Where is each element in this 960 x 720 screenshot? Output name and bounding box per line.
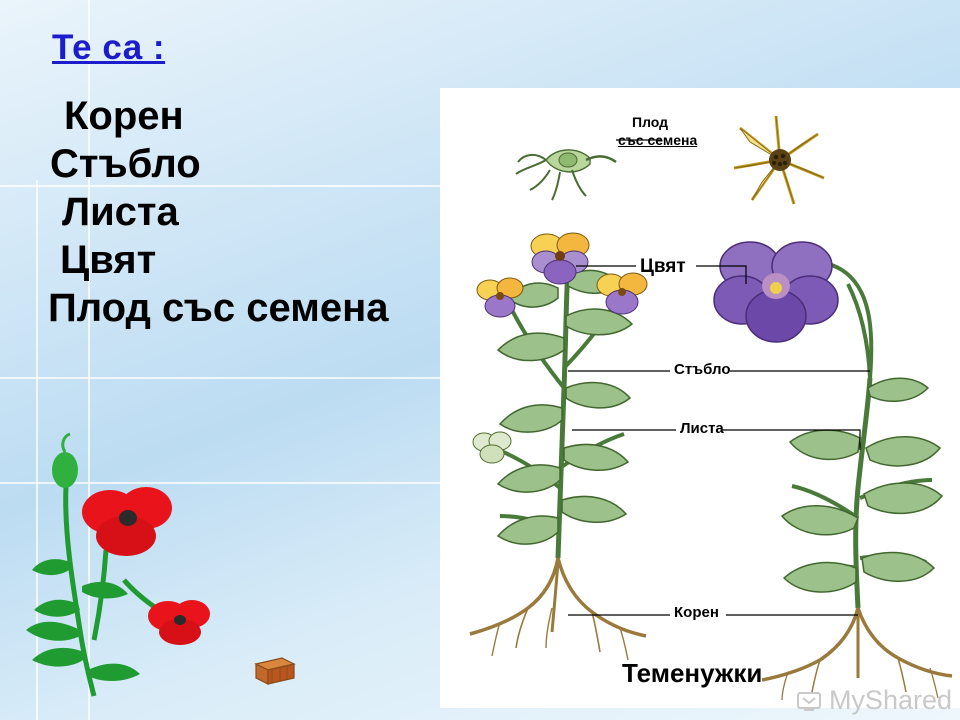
watermark: MyShared [795, 685, 952, 716]
label-flower: Цвят [640, 256, 686, 278]
decorative-line-2 [0, 377, 440, 379]
list-item: Корен [64, 96, 448, 136]
list-item: Стъбло [50, 144, 448, 184]
list-item: Листа [62, 192, 448, 232]
seed-capsule-illustration [516, 150, 616, 200]
brick-icon [252, 652, 298, 690]
right-violet-plant [714, 242, 952, 700]
page-title: Те са : [52, 28, 165, 68]
label-stem: Стъбло [674, 361, 731, 378]
label-root: Корен [674, 604, 719, 621]
diagram-caption: Теменужки [622, 658, 762, 689]
label-fruit-line2: със семена [618, 132, 697, 148]
poppy-flower-illustration [20, 430, 240, 700]
left-violet-plant [470, 233, 647, 660]
label-leaves: Листа [680, 420, 724, 437]
slide: Те са : Корен Стъбло Листа Цвят Плод със… [0, 0, 960, 720]
list-item: Плод със семена [48, 288, 448, 328]
diagram-panel: Плод със семена Цвят Стъбло Листа Корен … [440, 88, 960, 708]
label-fruit-line1: Плод [632, 114, 668, 130]
list-item: Цвят [60, 240, 448, 280]
parts-list: Корен Стъбло Листа Цвят Плод със семена [48, 96, 448, 328]
page-title-text: Те са : [52, 28, 165, 68]
watermark-logo-icon [795, 687, 823, 715]
opened-capsule-illustration [734, 116, 824, 204]
watermark-text: MyShared [829, 685, 952, 716]
